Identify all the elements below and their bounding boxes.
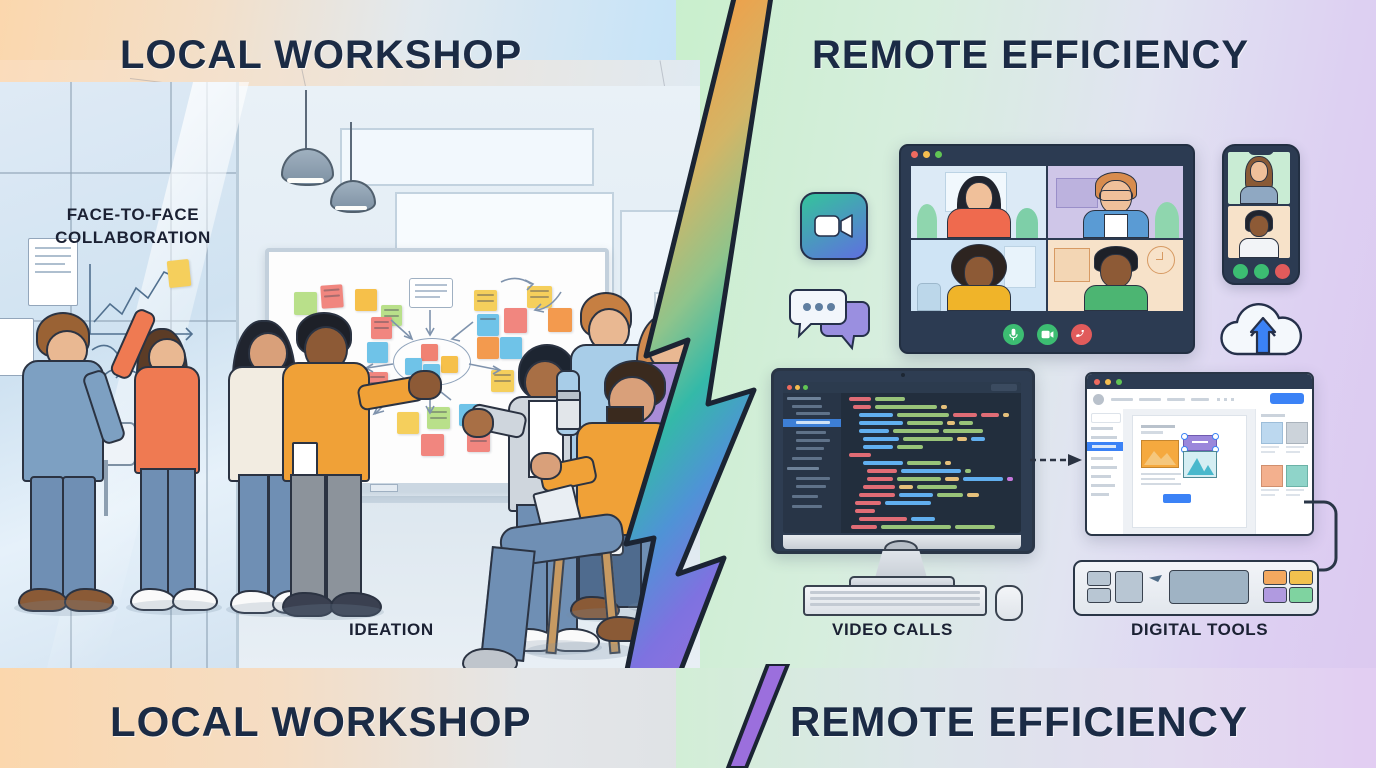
sidebar-search[interactable]: [1091, 413, 1121, 423]
resize-handle[interactable]: [1181, 433, 1188, 440]
code-area[interactable]: [845, 395, 1017, 531]
flow-arrow-icon: [1030, 452, 1084, 468]
close-icon[interactable]: [787, 385, 792, 390]
window-title-bar: [1087, 374, 1312, 389]
close-icon[interactable]: [1094, 379, 1100, 385]
mic-button[interactable]: [1233, 264, 1248, 279]
color-swatch[interactable]: [1261, 465, 1283, 487]
maximize-icon[interactable]: [803, 385, 808, 390]
window-title-bar: [901, 146, 1193, 163]
app-sidebar[interactable]: [1087, 409, 1124, 534]
open-hand: [530, 452, 562, 480]
color-swatch[interactable]: [1261, 422, 1283, 444]
file-tree-sidebar[interactable]: [783, 393, 841, 533]
stylus-cursor-icon: [1149, 575, 1162, 582]
open-hand: [408, 370, 442, 400]
cloud-upload-icon[interactable]: [1214, 298, 1312, 360]
minimize-icon[interactable]: [1105, 379, 1111, 385]
lamp-glow: [287, 178, 324, 183]
lamp-cord: [305, 90, 307, 150]
canvas-area[interactable]: [1123, 409, 1256, 534]
caption-ideation: IDEATION: [349, 620, 434, 640]
coffee-cup: [556, 390, 581, 430]
mobile-video-call[interactable]: [1222, 144, 1300, 285]
video-call-window[interactable]: [899, 144, 1195, 354]
orange-image-placeholder[interactable]: [1141, 440, 1179, 468]
infographic-canvas: LOCAL WORKSHOP REMOTE EFFICIENCY LOCAL W…: [0, 0, 1376, 768]
keyboard[interactable]: [803, 585, 987, 616]
code-editor[interactable]: [783, 382, 1021, 533]
primary-action-button[interactable]: [1270, 393, 1304, 404]
avatar[interactable]: [1093, 394, 1104, 405]
camera-button[interactable]: [1254, 264, 1269, 279]
page-title-remote-bottom: REMOTE EFFICIENCY: [790, 698, 1248, 746]
graphics-tablet[interactable]: [1073, 560, 1319, 616]
ceiling-window: [340, 128, 594, 186]
participant-tile[interactable]: [1048, 240, 1183, 312]
webcam-icon: [901, 373, 905, 377]
teal-image-placeholder[interactable]: [1183, 451, 1217, 478]
desktop-monitor[interactable]: [771, 368, 1035, 554]
maximize-icon[interactable]: [1116, 379, 1122, 385]
app-toolbar[interactable]: [1087, 389, 1312, 410]
resize-handle[interactable]: [1212, 433, 1219, 440]
caption-video-calls: VIDEO CALLS: [832, 620, 953, 640]
editor-tab[interactable]: [991, 384, 1017, 391]
hangup-button[interactable]: [1275, 264, 1290, 279]
handheld-paper: [292, 442, 318, 476]
participant-tile[interactable]: [911, 166, 1046, 238]
participant-tile[interactable]: [1228, 206, 1290, 258]
participant-grid: [911, 166, 1183, 311]
color-swatch[interactable]: [1286, 422, 1308, 444]
lightning-bolt-divider: [610, 0, 780, 768]
phone-notch: [1248, 149, 1274, 155]
phone-call-controls: [1224, 264, 1298, 279]
open-hand: [462, 408, 494, 438]
tablet-drawing-area: [1169, 570, 1249, 604]
maximize-icon[interactable]: [935, 151, 942, 158]
chair-post: [104, 460, 108, 516]
participant-tile[interactable]: [1048, 166, 1183, 238]
mouse[interactable]: [995, 585, 1023, 621]
hangup-button[interactable]: [1071, 324, 1092, 345]
participant-tile[interactable]: [1228, 152, 1290, 204]
video-camera-icon[interactable]: [800, 192, 868, 260]
page-title-remote-top: REMOTE EFFICIENCY: [812, 33, 1249, 78]
participant-tile[interactable]: [911, 240, 1046, 312]
camera-button[interactable]: [1037, 324, 1058, 345]
close-icon[interactable]: [911, 151, 918, 158]
sticky-note: [167, 259, 192, 288]
caption-face-to-face: FACE-TO-FACE COLLABORATION: [38, 204, 228, 250]
call-controls: [901, 324, 1193, 345]
local-workshop-scene: [0, 60, 700, 668]
canvas-page[interactable]: [1132, 415, 1247, 528]
caption-digital-tools: DIGITAL TOOLS: [1131, 620, 1268, 640]
chat-bubbles-icon[interactable]: [788, 288, 872, 354]
page-title-local-top: LOCAL WORKSHOP: [120, 33, 522, 78]
mic-button[interactable]: [1003, 324, 1024, 345]
cta-button[interactable]: [1163, 494, 1191, 503]
color-swatch[interactable]: [1286, 465, 1308, 487]
page-title-local-bottom: LOCAL WORKSHOP: [110, 698, 532, 746]
design-tool-window[interactable]: [1085, 372, 1314, 536]
video-camera-glyph: [814, 213, 854, 239]
whiteboard-marker: [370, 484, 398, 492]
lamp-cord: [350, 122, 352, 182]
editor-title-bar: [783, 382, 1021, 393]
lamp-glow: [335, 206, 367, 210]
minimize-icon[interactable]: [923, 151, 930, 158]
bolt-band-segment: [676, 664, 806, 768]
minimize-icon[interactable]: [795, 385, 800, 390]
selected-element[interactable]: [1183, 435, 1217, 451]
